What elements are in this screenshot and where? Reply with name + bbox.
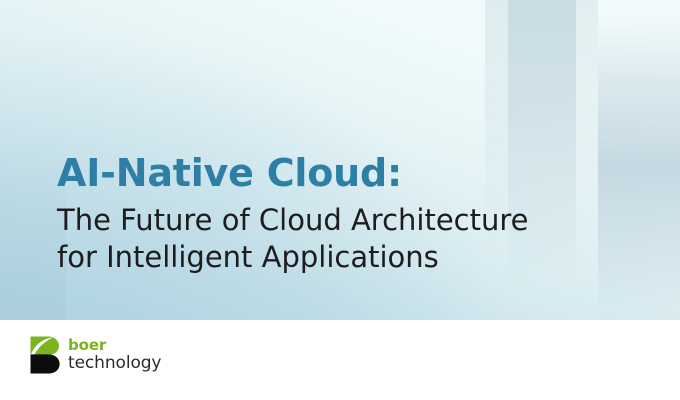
slide-subtitle: The Future of Cloud Architecture for Int… <box>57 202 617 276</box>
brand-wordmark: boer technology <box>68 338 161 372</box>
brand-name-secondary: technology <box>68 355 161 372</box>
presentation-slide: AI-Native Cloud: The Future of Cloud Arc… <box>0 0 680 400</box>
slide-subtitle-line-2: for Intelligent Applications <box>57 239 617 276</box>
boer-b-leaf-mark-icon <box>30 336 60 374</box>
slide-subtitle-line-1: The Future of Cloud Architecture <box>57 202 617 239</box>
brand-name-primary: boer <box>68 338 161 353</box>
slide-title: AI-Native Cloud: <box>57 150 617 196</box>
brand-logo: boer technology <box>30 336 161 374</box>
slide-copy-block: AI-Native Cloud: The Future of Cloud Arc… <box>57 150 617 276</box>
